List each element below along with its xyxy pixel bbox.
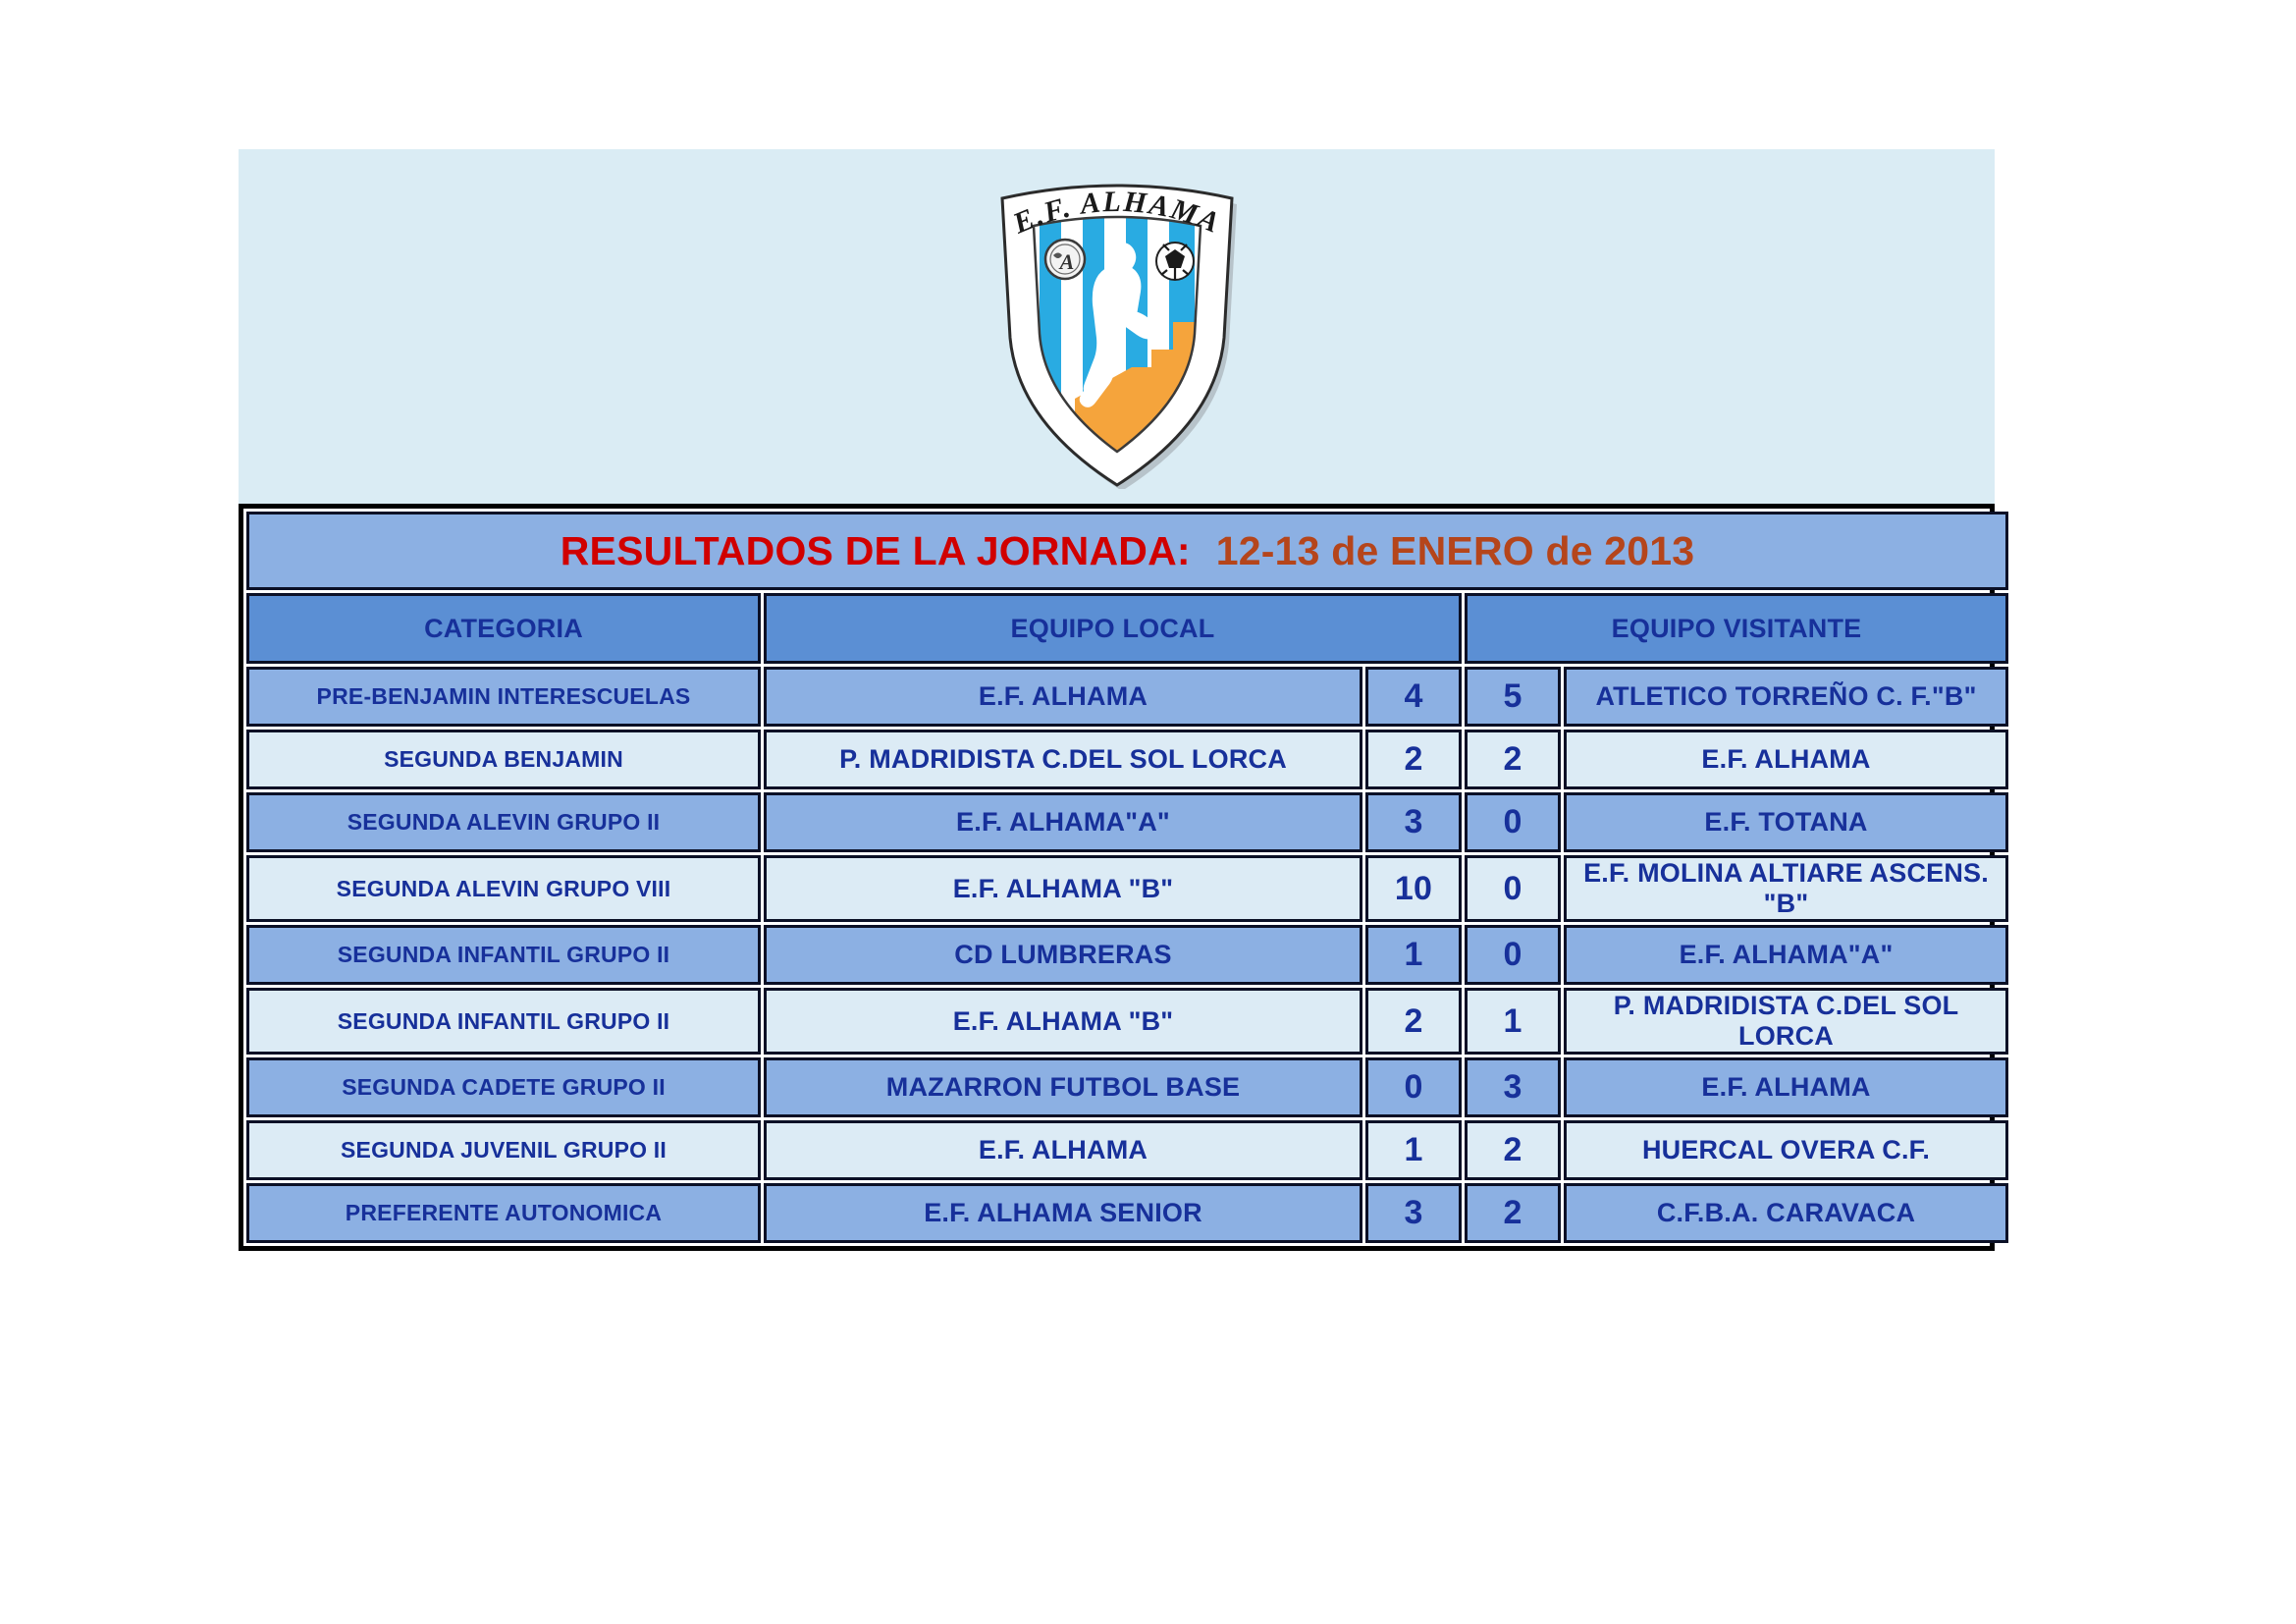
cell-categoria: SEGUNDA BENJAMIN (246, 730, 761, 789)
soccer-ball-icon (1156, 243, 1194, 280)
cell-categoria: SEGUNDA INFANTIL GRUPO II (246, 925, 761, 985)
table-row: SEGUNDA BENJAMIN P. MADRIDISTA C.DEL SOL… (246, 730, 2008, 789)
title-main-text: RESULTADOS DE LA JORNADA: (561, 528, 1191, 573)
cell-goles-local: 3 (1365, 792, 1462, 852)
cell-categoria: SEGUNDA JUVENIL GRUPO II (246, 1120, 761, 1180)
cell-categoria: SEGUNDA INFANTIL GRUPO II (246, 988, 761, 1055)
cell-equipo-local: MAZARRON FUTBOL BASE (764, 1057, 1362, 1117)
cell-equipo-local: P. MADRIDISTA C.DEL SOL LORCA (764, 730, 1362, 789)
monogram-badge: A (1045, 240, 1085, 279)
title-row: RESULTADOS DE LA JORNADA:12-13 de ENERO … (246, 512, 2008, 590)
cell-goles-local: 1 (1365, 1120, 1462, 1180)
column-header-categoria: CATEGORIA (246, 593, 761, 664)
cell-goles-visitante: 2 (1465, 1183, 1561, 1243)
cell-equipo-local: E.F. ALHAMA (764, 1120, 1362, 1180)
table-row: PREFERENTE AUTONOMICA E.F. ALHAMA SENIOR… (246, 1183, 2008, 1243)
table-row: SEGUNDA INFANTIL GRUPO II E.F. ALHAMA "B… (246, 988, 2008, 1055)
cell-goles-visitante: 5 (1465, 667, 1561, 727)
cell-goles-local: 10 (1365, 855, 1462, 922)
cell-equipo-local: E.F. ALHAMA "B" (764, 855, 1362, 922)
cell-goles-local: 4 (1365, 667, 1462, 727)
results-table: RESULTADOS DE LA JORNADA:12-13 de ENERO … (243, 509, 2011, 1246)
svg-text:A: A (1057, 249, 1074, 274)
cell-equipo-local: CD LUMBRERAS (764, 925, 1362, 985)
cell-categoria: SEGUNDA ALEVIN GRUPO VIII (246, 855, 761, 922)
page-title: RESULTADOS DE LA JORNADA:12-13 de ENERO … (246, 512, 2008, 590)
cell-goles-local: 2 (1365, 730, 1462, 789)
cell-equipo-visitante: C.F.B.A. CARAVACA (1564, 1183, 2008, 1243)
cell-equipo-local: E.F. ALHAMA (764, 667, 1362, 727)
cell-equipo-visitante: E.F. ALHAMA (1564, 730, 2008, 789)
table-row: SEGUNDA ALEVIN GRUPO VIII E.F. ALHAMA "B… (246, 855, 2008, 922)
cell-goles-local: 1 (1365, 925, 1462, 985)
cell-equipo-visitante: E.F. TOTANA (1564, 792, 2008, 852)
header-banner: A E.F. ALHAMA (239, 149, 1995, 505)
cell-categoria: PRE-BENJAMIN INTERESCUELAS (246, 667, 761, 727)
cell-goles-local: 2 (1365, 988, 1462, 1055)
table-row: SEGUNDA ALEVIN GRUPO II E.F. ALHAMA"A" 3… (246, 792, 2008, 852)
cell-equipo-visitante: P. MADRIDISTA C.DEL SOL LORCA (1564, 988, 2008, 1055)
cell-categoria: SEGUNDA CADETE GRUPO II (246, 1057, 761, 1117)
cell-goles-visitante: 2 (1465, 1120, 1561, 1180)
cell-goles-visitante: 0 (1465, 792, 1561, 852)
cell-goles-local: 3 (1365, 1183, 1462, 1243)
table-row: SEGUNDA JUVENIL GRUPO II E.F. ALHAMA 1 2… (246, 1120, 2008, 1180)
cell-equipo-visitante: HUERCAL OVERA C.F. (1564, 1120, 2008, 1180)
cell-goles-visitante: 1 (1465, 988, 1561, 1055)
cell-goles-visitante: 3 (1465, 1057, 1561, 1117)
cell-equipo-local: E.F. ALHAMA "B" (764, 988, 1362, 1055)
table-row: SEGUNDA INFANTIL GRUPO II CD LUMBRERAS 1… (246, 925, 2008, 985)
cell-categoria: PREFERENTE AUTONOMICA (246, 1183, 761, 1243)
cell-equipo-visitante: E.F. ALHAMA"A" (1564, 925, 2008, 985)
cell-goles-visitante: 2 (1465, 730, 1561, 789)
cell-equipo-visitante: E.F. MOLINA ALTIARE ASCENS. "B" (1564, 855, 2008, 922)
results-table-container: RESULTADOS DE LA JORNADA:12-13 de ENERO … (239, 504, 1995, 1251)
cell-equipo-visitante: E.F. ALHAMA (1564, 1057, 2008, 1117)
cell-goles-visitante: 0 (1465, 925, 1561, 985)
cell-categoria: SEGUNDA ALEVIN GRUPO II (246, 792, 761, 852)
table-row: PRE-BENJAMIN INTERESCUELAS E.F. ALHAMA 4… (246, 667, 2008, 727)
cell-equipo-visitante: ATLETICO TORREÑO C. F."B" (1564, 667, 2008, 727)
cell-goles-local: 0 (1365, 1057, 1462, 1117)
table-row: SEGUNDA CADETE GRUPO II MAZARRON FUTBOL … (246, 1057, 2008, 1117)
title-date-text: 12-13 de ENERO de 2013 (1216, 528, 1695, 573)
header-row: CATEGORIA EQUIPO LOCAL EQUIPO VISITANTE (246, 593, 2008, 664)
cell-goles-visitante: 0 (1465, 855, 1561, 922)
column-header-equipo-local: EQUIPO LOCAL (764, 593, 1462, 664)
column-header-equipo-visitante: EQUIPO VISITANTE (1465, 593, 2008, 664)
cell-equipo-local: E.F. ALHAMA"A" (764, 792, 1362, 852)
ef-alhama-crest: A E.F. ALHAMA (988, 165, 1246, 489)
cell-equipo-local: E.F. ALHAMA SENIOR (764, 1183, 1362, 1243)
